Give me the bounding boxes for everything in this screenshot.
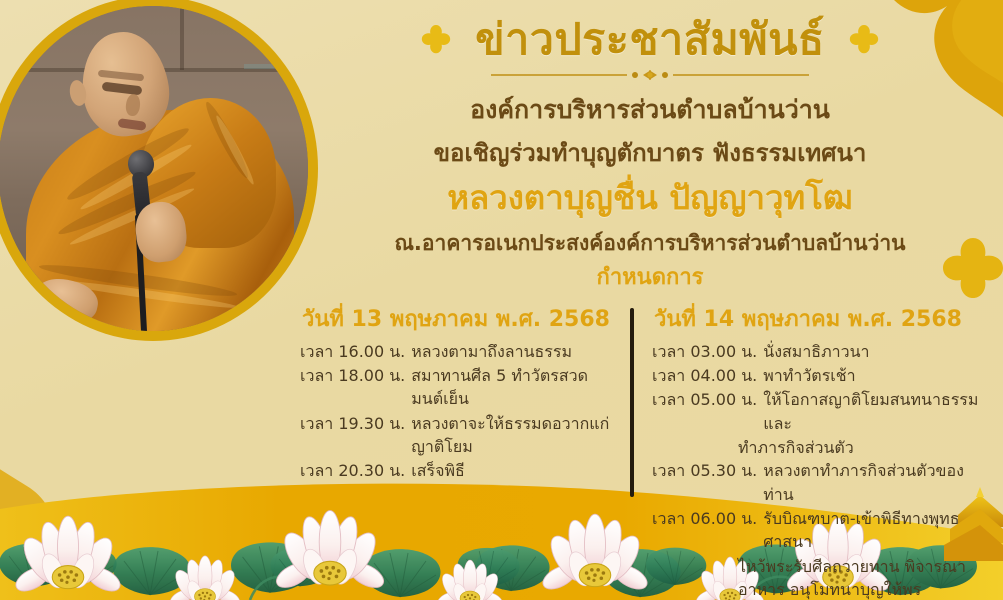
title-row: ข่าวประชาสัมพันธ์ bbox=[300, 18, 1000, 63]
schedule-time: เวลา 19.30 น. bbox=[300, 412, 405, 459]
list-item: เวลา 03.00 น. นั่งสมาธิภาวนา bbox=[652, 340, 990, 363]
schedule-time: เวลา 03.00 น. bbox=[652, 340, 757, 363]
schedule-text: รับบิณฑบาต-เข้าพิธีทางพุทธศาสนา bbox=[763, 507, 990, 554]
list-item: เวลา 19.30 น. หลวงตาจะให้ธรรมดอวากแก่ญาต… bbox=[300, 412, 616, 459]
headline-block: ข่าวประชาสัมพันธ์ องค์การบริหารส่วนตำบลบ… bbox=[300, 18, 1000, 292]
flame-ornament-icon bbox=[0, 430, 110, 580]
list-item: เวลา 20.30 น. เสร็จพิธี bbox=[300, 459, 616, 482]
schedule-section: วันที่ 13 พฤษภาคม พ.ศ. 2568 เวลา 16.00 น… bbox=[300, 306, 1000, 521]
schedule-time: เวลา 16.00 น. bbox=[300, 340, 405, 363]
schedule-text: หลวงตามาถึงลานธรรม bbox=[411, 340, 572, 363]
monk-portrait-image bbox=[0, 6, 308, 331]
agenda-label: กำหนดการ bbox=[300, 265, 1000, 291]
schedule-text-continuation: ทำภารกิจส่วนตัว bbox=[652, 436, 990, 459]
schedule-time: เวลา 06.00 น. bbox=[652, 507, 757, 554]
schedule-time: เวลา 20.30 น. bbox=[300, 459, 405, 482]
schedule-day2-heading: วันที่ 14 พฤษภาคม พ.ศ. 2568 bbox=[654, 306, 990, 334]
schedule-time: เวลา 05.30 น. bbox=[652, 459, 757, 506]
list-item: เวลา 16.00 น. หลวงตามาถึงลานธรรม bbox=[300, 340, 616, 363]
schedule-day1-heading: วันที่ 13 พฤษภาคม พ.ศ. 2568 bbox=[302, 306, 616, 334]
schedule-text-continuation: ไหว้พระรับศีลถวายทาน พิจารณา bbox=[652, 555, 990, 578]
invitation-line: ขอเชิญร่วมทำบุญตักบาตร ฟังธรรมเทศนา bbox=[300, 137, 1000, 169]
title-divider-ornament bbox=[485, 67, 815, 83]
schedule-text: พาทำวัตรเช้า bbox=[763, 364, 855, 387]
schedule-time: เวลา 04.00 น. bbox=[652, 364, 757, 387]
list-item: เวลา 05.00 น. ให้โอกาสญาติโยมสนทนาธรรมแล… bbox=[652, 388, 990, 435]
schedule-text: ให้โอกาสญาติโยมสนทนาธรรมและ bbox=[763, 388, 990, 435]
schedule-text: สมาทานศีล 5 ทำวัตรสวดมนต์เย็น bbox=[411, 364, 616, 411]
list-item: เวลา 04.00 น. พาทำวัตรเช้า bbox=[652, 364, 990, 387]
list-item: เวลา 06.00 น. รับบิณฑบาต-เข้าพิธีทางพุทธ… bbox=[652, 507, 990, 554]
schedule-text-continuation: อาหาร อนุโมทนาบุญให้พร bbox=[652, 578, 990, 600]
schedule-text: นั่งสมาธิภาวนา bbox=[763, 340, 869, 363]
monk-portrait-art bbox=[0, 6, 308, 331]
schedule-time: เวลา 18.00 น. bbox=[300, 364, 405, 411]
page-title: ข่าวประชาสัมพันธ์ bbox=[475, 18, 825, 63]
list-item: เวลา 18.00 น. สมาทานศีล 5 ทำวัตรสวดมนต์เ… bbox=[300, 364, 616, 411]
schedule-column-day2: วันที่ 14 พฤษภาคม พ.ศ. 2568 เวลา 03.00 น… bbox=[634, 306, 990, 521]
schedule-day2-list: เวลา 03.00 น. นั่งสมาธิภาวนา เวลา 04.00 … bbox=[652, 340, 990, 600]
schedule-text: หลวงตาทำภารกิจส่วนตัวของท่าน bbox=[763, 459, 990, 506]
schedule-text: หลวงตาจะให้ธรรมดอวากแก่ญาติโยม bbox=[411, 412, 616, 459]
organization-name: องค์การบริหารส่วนตำบลบ้านว่าน bbox=[300, 93, 1000, 127]
list-item: เวลา 05.30 น. หลวงตาทำภารกิจส่วนตัวของท่… bbox=[652, 459, 990, 506]
schedule-text: เสร็จพิธี bbox=[411, 459, 465, 482]
venue-line: ณ.อาคารอเนกประสงค์องค์การบริหารส่วนตำบลบ… bbox=[300, 230, 1000, 257]
schedule-time: เวลา 05.00 น. bbox=[652, 388, 757, 435]
poster-canvas: ข่าวประชาสัมพันธ์ องค์การบริหารส่วนตำบลบ… bbox=[0, 0, 1003, 600]
quatrefoil-icon bbox=[419, 24, 453, 58]
monk-photo-frame bbox=[0, 0, 318, 341]
monk-name: หลวงตาบุญชื่น ปัญญาวุทโฒ bbox=[300, 177, 1000, 220]
schedule-day1-list: เวลา 16.00 น. หลวงตามาถึงลานธรรม เวลา 18… bbox=[300, 340, 616, 483]
schedule-column-day1: วันที่ 13 พฤษภาคม พ.ศ. 2568 เวลา 16.00 น… bbox=[300, 306, 630, 521]
quatrefoil-icon bbox=[847, 24, 881, 58]
